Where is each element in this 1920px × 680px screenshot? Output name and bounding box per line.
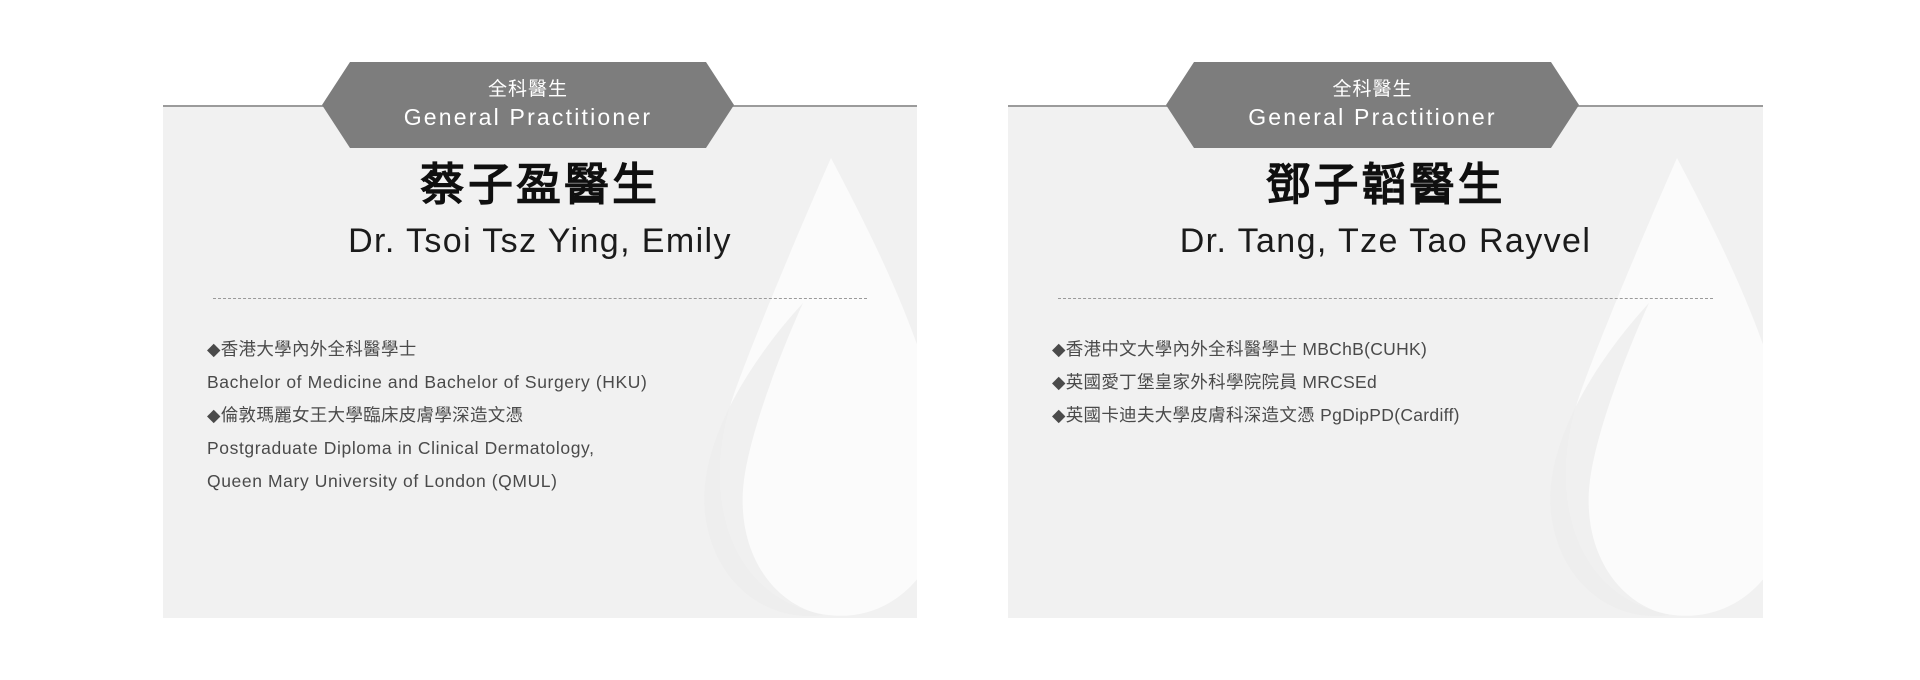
- specialty-banner-en: General Practitioner: [1248, 102, 1497, 132]
- doctor-name-en: Dr. Tang, Tze Tao Rayvel: [1048, 217, 1723, 265]
- doctor-profile-page: 蔡子盈醫生 Dr. Tsoi Tsz Ying, Emily ◆香港大學內外全科…: [0, 0, 1920, 680]
- qualification-item: ◆英國愛丁堡皇家外科學院院員 MRCSEd: [1052, 366, 1723, 399]
- specialty-banner-2: 全科醫生 General Practitioner: [1166, 62, 1579, 148]
- specialty-banner-1: 全科醫生 General Practitioner: [322, 62, 734, 148]
- specialty-banner-zh: 全科醫生: [488, 78, 568, 102]
- doctor-name-en: Dr. Tsoi Tsz Ying, Emily: [203, 217, 877, 265]
- specialty-banner-zh: 全科醫生: [1332, 78, 1412, 102]
- specialty-banner-en: General Practitioner: [404, 102, 653, 132]
- doctor-card-2: 鄧子韜醫生 Dr. Tang, Tze Tao Rayvel ◆香港中文大學內外…: [1008, 105, 1763, 618]
- doctor-card-1-body: 蔡子盈醫生 Dr. Tsoi Tsz Ying, Emily ◆香港大學內外全科…: [163, 107, 917, 618]
- doctor-name-zh: 蔡子盈醫生: [203, 157, 877, 213]
- section-divider: [1058, 298, 1713, 299]
- qualification-item: ◆香港大學內外全科醫學士: [207, 333, 877, 366]
- qualification-list-2: ◆香港中文大學內外全科醫學士 MBChB(CUHK) ◆英國愛丁堡皇家外科學院院…: [1048, 333, 1723, 432]
- doctor-card-1: 蔡子盈醫生 Dr. Tsoi Tsz Ying, Emily ◆香港大學內外全科…: [163, 105, 917, 618]
- qualification-item: ◆英國卡迪夫大學皮膚科深造文憑 PgDipPD(Cardiff): [1052, 399, 1723, 432]
- qualification-item: Queen Mary University of London (QMUL): [207, 465, 877, 498]
- qualification-item: ◆倫敦瑪麗女王大學臨床皮膚學深造文憑: [207, 399, 877, 432]
- qualification-item: Postgraduate Diploma in Clinical Dermato…: [207, 432, 877, 465]
- doctor-card-2-body: 鄧子韜醫生 Dr. Tang, Tze Tao Rayvel ◆香港中文大學內外…: [1008, 107, 1763, 618]
- qualification-item: Bachelor of Medicine and Bachelor of Sur…: [207, 366, 877, 399]
- doctor-name-zh: 鄧子韜醫生: [1048, 157, 1723, 213]
- qualification-item: ◆香港中文大學內外全科醫學士 MBChB(CUHK): [1052, 333, 1723, 366]
- section-divider: [213, 298, 867, 299]
- qualification-list-1: ◆香港大學內外全科醫學士 Bachelor of Medicine and Ba…: [203, 333, 877, 498]
